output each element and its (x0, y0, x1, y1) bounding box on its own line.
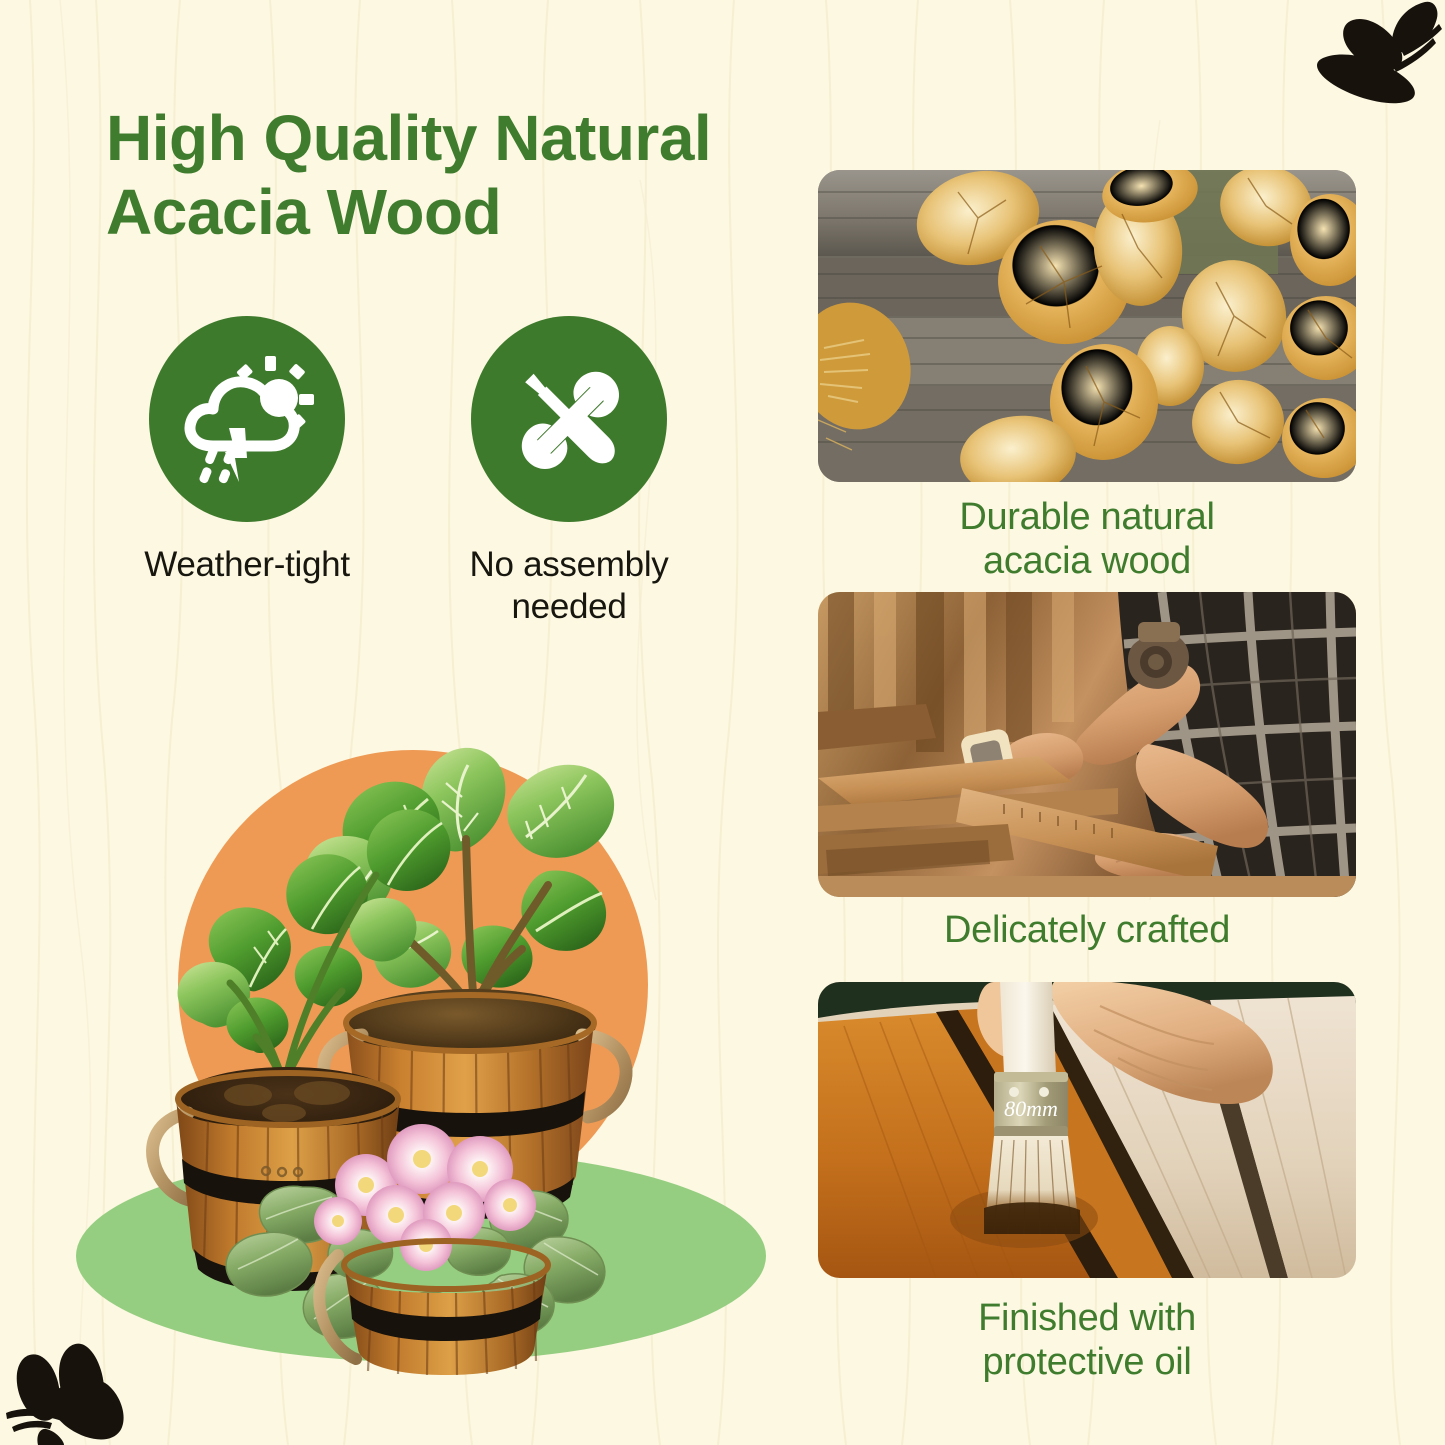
caption-line-2: protective oil (818, 1340, 1356, 1384)
page-title-line-1: High Quality Natural (106, 101, 806, 175)
page-title: High Quality Natural Acacia Wood (106, 101, 806, 249)
photo-caption-delicately-crafted: Delicately crafted (818, 908, 1356, 952)
caption-line-1: Durable natural (818, 495, 1356, 539)
photo-card-protective-oil: 80mm (818, 982, 1356, 1278)
page-title-line-2: Acacia Wood (106, 175, 806, 249)
feature-label-no-assembly: No assembly needed (470, 544, 669, 628)
feature-no-assembly: No assembly needed (444, 316, 694, 628)
carpenter-measuring-wood-photo (818, 592, 1356, 897)
leaf-branch-top-right-icon (1313, 0, 1443, 104)
photo-card-delicately-crafted (818, 592, 1356, 897)
stacked-acacia-logs-photo (818, 170, 1356, 482)
caption-line-1: Finished with (818, 1296, 1356, 1340)
feature-badge-circle (471, 316, 667, 522)
storm-cloud-sun-icon (179, 354, 315, 484)
brush-applying-oil-to-planks-photo: 80mm (818, 982, 1356, 1278)
barrel-planters-illustration (70, 735, 770, 1375)
feature-list: Weather-tight (122, 316, 742, 628)
caption-line-2: acacia wood (818, 539, 1356, 583)
photo-caption-durable-wood: Durable natural acacia wood (818, 495, 1356, 584)
feature-badge-circle (149, 316, 345, 522)
brush-size-label: 80mm (1004, 1096, 1058, 1121)
caption-line-1: Delicately crafted (818, 908, 1356, 952)
hero-product-image (70, 735, 770, 1375)
wrench-screwdriver-icon (504, 356, 634, 482)
photo-caption-protective-oil: Finished with protective oil (818, 1296, 1356, 1385)
infographic-page: High Quality Natural Acacia Wood (0, 0, 1445, 1445)
photo-card-durable-wood (818, 170, 1356, 482)
feature-label-line-1: No assembly (470, 544, 669, 586)
feature-label-line-2: needed (470, 586, 669, 628)
feature-weather-tight: Weather-tight (122, 316, 372, 628)
feature-label-line-1: Weather-tight (144, 545, 350, 584)
feature-label-weather-tight: Weather-tight (144, 544, 350, 586)
